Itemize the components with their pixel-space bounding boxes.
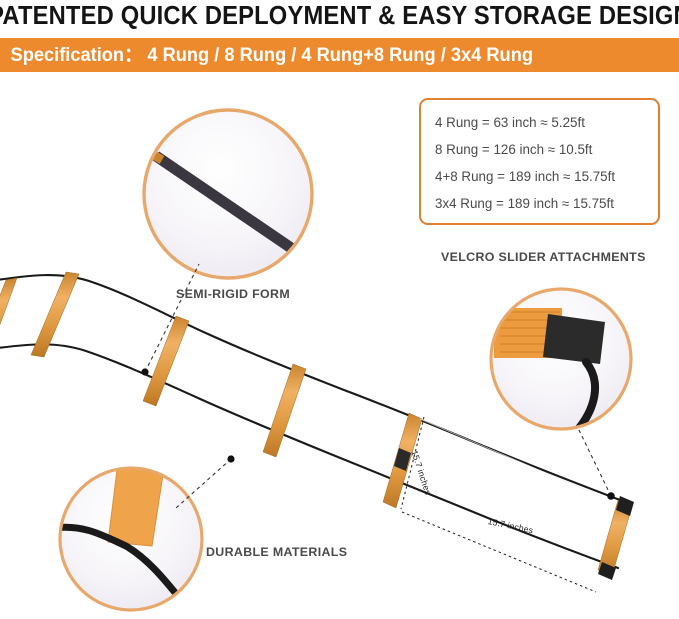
callout-label-durable: DURABLE MATERIALS — [206, 545, 347, 559]
callout-label-semi-rigid: SEMI-RIGID FORM — [176, 287, 290, 301]
magnifier-durable — [54, 462, 202, 610]
anchor-dot-semi-rigid — [141, 368, 148, 375]
legend-line-4plus8rung: 4+8 Rung = 189 inch ≈ 15.75ft — [435, 163, 658, 190]
anchor-dot-velcro — [607, 492, 615, 500]
measurement-legend: 4 Rung = 63 inch ≈ 5.25ft 8 Rung = 126 i… — [419, 98, 660, 225]
specification-label: Specification： 4 Rung / 8 Rung / 4 Rung+… — [0, 46, 533, 65]
velcro-pad-detail — [543, 314, 605, 364]
magnifier-semi-rigid — [144, 110, 312, 278]
product-infographic: PATENTED QUICK DEPLOYMENT & EASY STORAGE… — [0, 0, 679, 619]
page-title: PATENTED QUICK DEPLOYMENT & EASY STORAGE… — [24, 0, 655, 34]
callout-label-velcro: VELCRO SLIDER ATTACHMENTS — [441, 250, 646, 264]
specification-bar: Specification： 4 Rung / 8 Rung / 4 Rung+… — [0, 38, 679, 72]
legend-line-8rung: 8 Rung = 126 inch ≈ 10.5ft — [435, 136, 658, 163]
magnifier-velcro — [491, 289, 631, 434]
legend-line-4rung: 4 Rung = 63 inch ≈ 5.25ft — [435, 109, 658, 136]
legend-line-3x4rung: 3x4 Rung = 189 inch ≈ 15.75ft — [435, 190, 658, 217]
anchor-dot-durable — [227, 455, 234, 462]
